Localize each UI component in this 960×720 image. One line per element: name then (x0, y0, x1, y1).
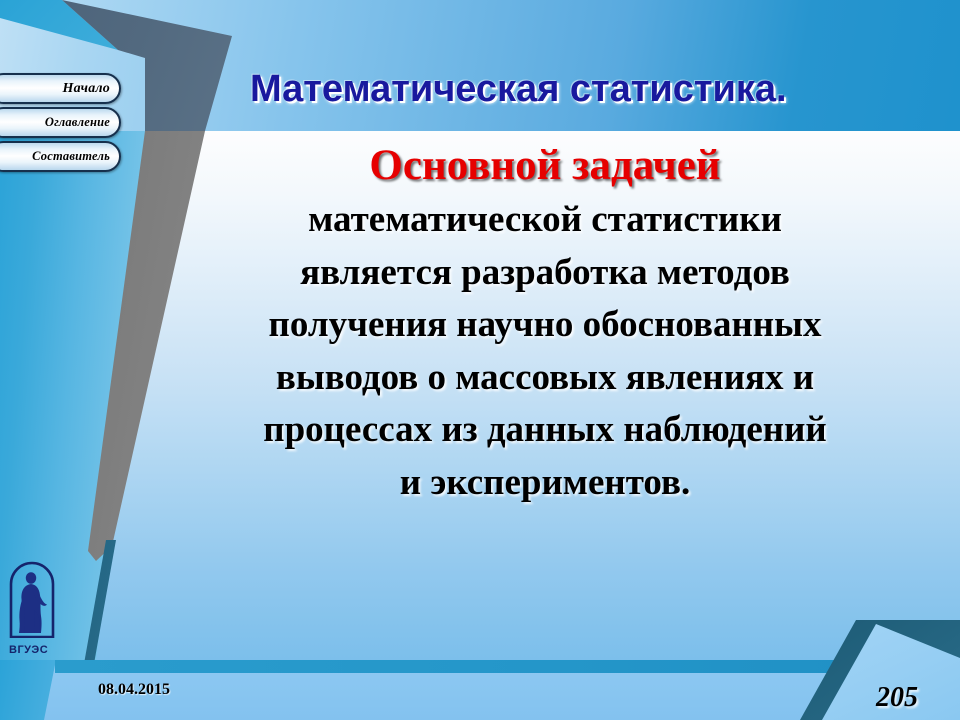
content-line: и экспериментов. (150, 457, 940, 510)
content-line: получения научно обоснованных (150, 299, 940, 352)
presentation-slide: Математическая статистика. Начало Оглавл… (0, 0, 960, 720)
content-accent-phrase: Основной задачей (150, 142, 940, 190)
content-line: математической статистики (150, 194, 940, 247)
logo-caption: ВГУЭС (9, 644, 68, 656)
slide-date: 08.04.2015 (98, 681, 170, 699)
nav-button-oglavlenie-label: Оглавление (45, 115, 110, 130)
nav-button-oglavlenie[interactable]: Оглавление (0, 107, 121, 138)
nav-button-sostavitel[interactable]: Составитель (0, 141, 121, 172)
footer-teal-bar (55, 660, 960, 673)
content-line: процессах из данных наблюдений (150, 404, 940, 457)
content-line: выводов о массовых явлениях и (150, 352, 940, 405)
navigation-button-group: Начало Оглавление Составитель (0, 73, 133, 175)
nav-button-nachalo-label: Начало (63, 81, 110, 97)
nav-button-nachalo[interactable]: Начало (0, 73, 121, 104)
content-line: является разработка методов (150, 247, 940, 300)
page-title: Математическая статистика. (250, 68, 910, 111)
university-logo: ВГУЭС (8, 560, 68, 656)
page-number: 205 (876, 682, 918, 714)
vgues-emblem-icon (8, 560, 56, 638)
nav-button-sostavitel-label: Составитель (32, 149, 110, 164)
slide-content: Основной задачей математической статисти… (150, 142, 940, 509)
